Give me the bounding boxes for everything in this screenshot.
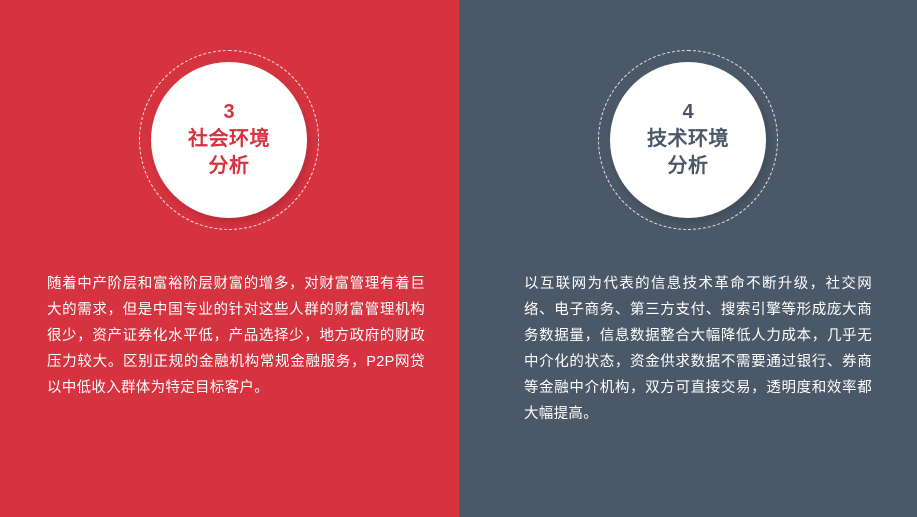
badge-title-line2: 分析 — [188, 153, 270, 180]
badge-disc: 3 社会环境 分析 — [151, 62, 307, 218]
section-badge-3[interactable]: 3 社会环境 分析 — [139, 50, 319, 230]
badge-title: 社会环境 分析 — [188, 126, 270, 180]
badge-title-line1: 社会环境 — [188, 128, 270, 150]
badge-title: 技术环境 分析 — [647, 126, 729, 180]
badge-title-line2: 分析 — [647, 153, 729, 180]
badge-title-line1: 技术环境 — [647, 128, 729, 150]
badge-number: 3 — [223, 101, 234, 124]
slide-canvas: 3 社会环境 分析 4 技术环境 分析 随着中产阶层和富裕阶层财富的增多，对财富… — [0, 0, 917, 517]
right-body-paragraph: 以互联网为代表的信息技术革命不断升级，社交网络、电子商务、第三方支付、搜索引擎等… — [524, 271, 872, 427]
badge-number: 4 — [682, 101, 693, 124]
badge-disc: 4 技术环境 分析 — [610, 62, 766, 218]
section-badge-4[interactable]: 4 技术环境 分析 — [598, 50, 778, 230]
left-body-paragraph: 随着中产阶层和富裕阶层财富的增多，对财富管理有着巨大的需求，但是中国专业的针对这… — [47, 271, 425, 401]
